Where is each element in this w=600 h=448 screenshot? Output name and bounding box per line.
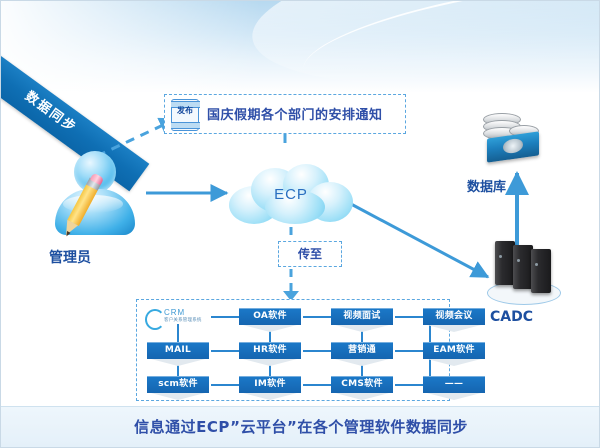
- transfer-box: 传至: [278, 241, 342, 267]
- software-cell-scm[interactable]: scm软件: [147, 376, 209, 393]
- software-grid: CRM 客户关系管理系统 OA软件 视频面试 视频会议 MAIL HR软件 营销…: [136, 299, 450, 401]
- hard-drive-platter: [503, 138, 523, 155]
- crm-logo-subtitle: 客户关系管理系统: [164, 317, 202, 323]
- ecp-cloud-icon: ECP: [229, 164, 353, 226]
- software-cell-more[interactable]: ——: [423, 376, 485, 393]
- software-cell-marketing[interactable]: 营销通: [331, 342, 393, 359]
- transfer-label: 传至: [279, 242, 341, 266]
- software-cell-video-meeting[interactable]: 视频会议: [423, 308, 485, 325]
- admin-label: 管理员: [49, 247, 91, 267]
- cadc-label: CADC: [490, 309, 533, 325]
- connector-h-r2-c2: [303, 350, 331, 352]
- publish-scroll-icon: 发布: [171, 99, 199, 131]
- connector-h-r1-c1: [211, 316, 239, 318]
- server-rack-1: [495, 241, 515, 285]
- connector-h-r3-c3: [395, 384, 423, 386]
- scroll-icon-bottom-bar: [171, 122, 200, 129]
- publish-icon-label: 发布: [172, 106, 198, 115]
- cadc-icon: [487, 239, 559, 305]
- connector-h-r3-c2: [303, 384, 331, 386]
- software-cell-oa[interactable]: OA软件: [239, 308, 301, 325]
- server-rack-2: [513, 245, 533, 289]
- software-cell-hr[interactable]: HR软件: [239, 342, 301, 359]
- connector-h-r3-c1: [211, 384, 239, 386]
- database-icon: [479, 113, 541, 169]
- software-cell-video-interview[interactable]: 视频面试: [331, 308, 393, 325]
- software-cell-cms[interactable]: CMS软件: [331, 376, 393, 393]
- software-cell-eam[interactable]: EAM软件: [423, 342, 485, 359]
- connector-h-r2-c1: [211, 350, 239, 352]
- software-cell-im[interactable]: IM软件: [239, 376, 301, 393]
- server-rack-3: [531, 249, 551, 293]
- connector-h-r1-c3: [395, 316, 423, 318]
- admin-icon: [53, 151, 137, 237]
- connector-h-r2-c3: [395, 350, 423, 352]
- notification-text: 国庆假期各个部门的安排通知: [207, 104, 397, 123]
- footer-bar: 信息通过ECP”云平台”在各个管理软件数据同步: [1, 406, 600, 447]
- software-cell-mail[interactable]: MAIL: [147, 342, 209, 359]
- footer-caption: 信息通过ECP”云平台”在各个管理软件数据同步: [1, 407, 600, 447]
- connector-h-r1-c2: [303, 316, 331, 318]
- arrow-cloud-to-cadc: [351, 204, 488, 277]
- crm-ring-icon: [145, 309, 165, 330]
- notification-box: 发布 国庆假期各个部门的安排通知: [164, 94, 406, 134]
- diagram-canvas: 数据同步 发布 国庆假期各个部门的安排通知: [0, 0, 600, 448]
- database-label: 数据库: [467, 176, 506, 195]
- ecp-label: ECP: [229, 186, 353, 203]
- crm-logo-title: CRM: [164, 308, 185, 317]
